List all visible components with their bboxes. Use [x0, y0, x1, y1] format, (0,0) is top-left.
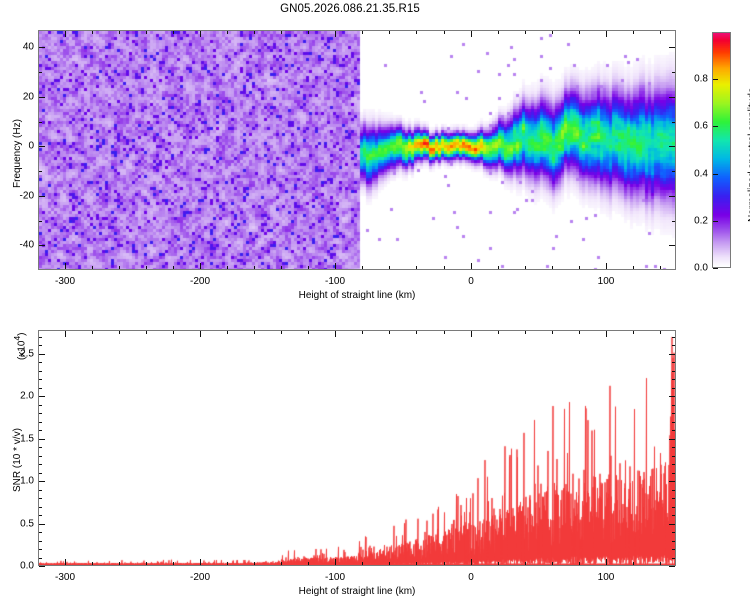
- x-tick-minor-top: [498, 31, 499, 34]
- x-tick-minor: [119, 266, 120, 269]
- y-tick-major-right: [669, 481, 675, 482]
- colorbar-tick-label: 0.8: [684, 74, 708, 85]
- y-tick-major: [39, 354, 45, 355]
- colorbar-tick-label: 0.0: [684, 263, 708, 274]
- x-tick-minor-top: [633, 331, 634, 334]
- y-tick-minor: [39, 379, 42, 380]
- y-tick-major: [39, 146, 45, 147]
- x-tick-minor-top: [227, 331, 228, 334]
- x-tick-minor-top: [146, 31, 147, 34]
- y-tick-minor: [39, 345, 42, 346]
- y-tick-minor: [39, 515, 42, 516]
- x-tick-minor: [552, 562, 553, 565]
- x-tick-major: [200, 263, 201, 269]
- y-tick-minor: [39, 122, 42, 123]
- x-tick-minor: [146, 266, 147, 269]
- y-tick-minor: [39, 171, 42, 172]
- x-tick-major: [335, 263, 336, 269]
- spectrogram-axes: [38, 30, 676, 270]
- x-tick-minor-top: [389, 31, 390, 34]
- x-tick-minor: [92, 266, 93, 269]
- x-tick-minor: [146, 562, 147, 565]
- x-tick-minor: [444, 562, 445, 565]
- spectrogram-image: [39, 31, 675, 269]
- y-tick-major-right: [669, 524, 675, 525]
- x-tick-minor: [579, 562, 580, 565]
- y-tick-minor-right: [672, 464, 675, 465]
- y-tick-minor: [39, 507, 42, 508]
- x-tick-minor: [498, 562, 499, 565]
- y-tick-major: [39, 47, 45, 48]
- y-tick-minor: [39, 456, 42, 457]
- snr-mult-base: (x10: [16, 341, 27, 360]
- x-tick-label: -100: [325, 572, 345, 583]
- x-tick-minor-top: [308, 331, 309, 334]
- y-tick-minor: [39, 464, 42, 465]
- x-tick-label: -200: [190, 572, 210, 583]
- x-tick-minor: [254, 266, 255, 269]
- y-tick-major: [39, 566, 45, 567]
- x-tick-major: [65, 263, 66, 269]
- x-tick-minor-top: [579, 31, 580, 34]
- y-tick-major-right: [669, 146, 675, 147]
- y-tick-minor-right: [672, 371, 675, 372]
- x-tick-minor: [92, 562, 93, 565]
- y-tick-major: [39, 524, 45, 525]
- x-tick-minor: [416, 562, 417, 565]
- x-tick-minor-top: [254, 31, 255, 34]
- y-tick-minor: [39, 413, 42, 414]
- snr-y-axis-label: SNR (10 * v/v): [12, 428, 23, 492]
- y-tick-minor-right: [672, 515, 675, 516]
- x-tick-minor-top: [92, 31, 93, 34]
- x-tick-minor-top: [525, 331, 526, 334]
- x-tick-major-top: [335, 31, 336, 37]
- spectrogram-y-axis-label: Frequency (Hz): [12, 119, 23, 188]
- colorbar-tick: [713, 126, 718, 127]
- y-tick-minor-right: [672, 558, 675, 559]
- x-tick-minor: [633, 266, 634, 269]
- y-tick-minor: [39, 490, 42, 491]
- x-tick-minor-top: [254, 331, 255, 334]
- colorbar: [712, 32, 731, 268]
- x-tick-minor: [389, 266, 390, 269]
- x-tick-minor: [281, 562, 282, 565]
- figure-title: GN05.2026.086.21.35.R15: [0, 3, 700, 15]
- x-tick-minor-top: [633, 31, 634, 34]
- y-tick-minor: [39, 221, 42, 222]
- colorbar-tick-label: 0.6: [684, 121, 708, 132]
- x-tick-minor: [389, 562, 390, 565]
- y-tick-minor-right: [672, 430, 675, 431]
- y-tick-major: [39, 196, 45, 197]
- x-tick-minor-top: [119, 31, 120, 34]
- x-tick-minor-top: [444, 31, 445, 34]
- y-tick-label: 0.0: [4, 561, 34, 572]
- snr-y-axis-multiplier: (x104): [12, 333, 27, 360]
- x-tick-major-top: [471, 331, 472, 337]
- y-tick-minor-right: [672, 405, 675, 406]
- x-tick-minor: [444, 266, 445, 269]
- x-tick-minor-top: [416, 31, 417, 34]
- snr-mult-exponent: 4: [12, 336, 22, 341]
- x-tick-label: -200: [190, 276, 210, 287]
- snr-trace: [39, 331, 675, 565]
- x-tick-major: [471, 263, 472, 269]
- x-tick-minor-top: [660, 331, 661, 334]
- x-tick-major: [606, 263, 607, 269]
- y-tick-minor-right: [672, 532, 675, 533]
- x-tick-minor: [281, 266, 282, 269]
- y-tick-minor-right: [672, 72, 675, 73]
- y-tick-label: -40: [4, 240, 34, 251]
- x-tick-label: 100: [598, 276, 615, 287]
- x-tick-major-top: [471, 31, 472, 37]
- y-tick-minor-right: [672, 337, 675, 338]
- y-tick-minor-right: [672, 379, 675, 380]
- x-tick-label: 100: [598, 572, 615, 583]
- y-tick-major: [39, 481, 45, 482]
- x-tick-major-top: [65, 31, 66, 37]
- y-tick-minor-right: [672, 473, 675, 474]
- x-tick-minor: [308, 266, 309, 269]
- x-tick-minor: [227, 562, 228, 565]
- x-tick-label: 0: [468, 572, 474, 583]
- y-tick-minor: [39, 405, 42, 406]
- x-tick-minor: [173, 266, 174, 269]
- x-tick-minor-top: [362, 331, 363, 334]
- x-tick-minor-top: [173, 331, 174, 334]
- y-tick-minor: [39, 447, 42, 448]
- x-tick-minor-top: [579, 331, 580, 334]
- colorbar-tick: [713, 221, 718, 222]
- y-tick-minor-right: [672, 221, 675, 222]
- x-tick-label: 0: [468, 276, 474, 287]
- x-tick-minor-top: [416, 331, 417, 334]
- y-tick-major-right: [669, 97, 675, 98]
- y-tick-major-right: [669, 47, 675, 48]
- y-tick-minor: [39, 473, 42, 474]
- x-tick-major-top: [606, 31, 607, 37]
- y-tick-minor: [39, 558, 42, 559]
- x-tick-major: [471, 559, 472, 565]
- snr-x-axis-label: Height of straight line (km): [299, 586, 416, 597]
- snr-mult-close: ): [16, 333, 27, 336]
- y-tick-minor-right: [672, 507, 675, 508]
- x-tick-major-top: [335, 331, 336, 337]
- x-tick-minor: [660, 266, 661, 269]
- y-tick-minor-right: [672, 122, 675, 123]
- y-tick-label: 20: [4, 92, 34, 103]
- y-tick-minor: [39, 422, 42, 423]
- x-tick-minor: [579, 266, 580, 269]
- y-tick-minor-right: [672, 388, 675, 389]
- y-tick-minor: [39, 72, 42, 73]
- colorbar-tick: [713, 268, 718, 269]
- x-tick-minor: [633, 562, 634, 565]
- x-tick-minor-top: [92, 331, 93, 334]
- y-tick-minor-right: [672, 413, 675, 414]
- x-tick-minor-top: [119, 331, 120, 334]
- snr-axes: [38, 330, 676, 566]
- x-tick-label: -100: [325, 276, 345, 287]
- colorbar-tick-label: 0.4: [684, 169, 708, 180]
- y-tick-minor-right: [672, 456, 675, 457]
- y-tick-major-right: [669, 439, 675, 440]
- x-tick-minor: [552, 266, 553, 269]
- y-tick-minor-right: [672, 490, 675, 491]
- y-tick-minor: [39, 541, 42, 542]
- x-tick-major: [606, 559, 607, 565]
- x-tick-minor: [362, 562, 363, 565]
- y-tick-label: -20: [4, 191, 34, 202]
- x-tick-minor: [525, 266, 526, 269]
- x-tick-major-top: [65, 331, 66, 337]
- x-tick-minor: [119, 562, 120, 565]
- y-tick-minor: [39, 532, 42, 533]
- y-tick-minor: [39, 388, 42, 389]
- x-tick-minor-top: [173, 31, 174, 34]
- y-tick-major-right: [669, 566, 675, 567]
- x-tick-major-top: [606, 331, 607, 337]
- y-tick-major: [39, 396, 45, 397]
- y-tick-major: [39, 439, 45, 440]
- y-tick-minor-right: [672, 345, 675, 346]
- y-tick-minor-right: [672, 549, 675, 550]
- x-tick-minor: [362, 266, 363, 269]
- y-tick-minor: [39, 549, 42, 550]
- y-tick-minor: [39, 430, 42, 431]
- x-tick-minor-top: [525, 31, 526, 34]
- y-tick-label: 0.5: [4, 519, 34, 530]
- x-tick-minor-top: [146, 331, 147, 334]
- y-tick-minor: [39, 337, 42, 338]
- x-tick-minor: [254, 562, 255, 565]
- y-tick-label: 2.0: [4, 391, 34, 402]
- x-tick-minor-top: [281, 331, 282, 334]
- y-tick-label: 40: [4, 42, 34, 53]
- y-tick-major-right: [669, 354, 675, 355]
- y-tick-major-right: [669, 196, 675, 197]
- spectrogram-x-axis-label: Height of straight line (km): [299, 290, 416, 301]
- figure-root: GN05.2026.086.21.35.R15 -300-200-1000100…: [0, 0, 750, 600]
- y-tick-major: [39, 245, 45, 246]
- x-tick-minor-top: [308, 31, 309, 34]
- y-tick-minor: [39, 362, 42, 363]
- y-tick-minor-right: [672, 362, 675, 363]
- y-tick-minor-right: [672, 498, 675, 499]
- x-tick-major: [65, 559, 66, 565]
- x-tick-minor: [660, 562, 661, 565]
- colorbar-tick: [713, 174, 718, 175]
- x-tick-minor-top: [552, 331, 553, 334]
- x-tick-label: -300: [55, 572, 75, 583]
- y-tick-minor: [39, 371, 42, 372]
- x-tick-minor: [173, 562, 174, 565]
- colorbar-tick-label: 0.2: [684, 216, 708, 227]
- x-tick-major: [200, 559, 201, 565]
- x-tick-minor: [416, 266, 417, 269]
- y-tick-major-right: [669, 245, 675, 246]
- y-tick-major: [39, 97, 45, 98]
- y-tick-minor-right: [672, 541, 675, 542]
- x-tick-major: [335, 559, 336, 565]
- x-tick-minor-top: [552, 31, 553, 34]
- x-tick-minor-top: [498, 331, 499, 334]
- colorbar-tick: [713, 79, 718, 80]
- x-tick-minor: [227, 266, 228, 269]
- y-tick-minor-right: [672, 447, 675, 448]
- x-tick-minor: [308, 562, 309, 565]
- x-tick-minor-top: [444, 331, 445, 334]
- x-tick-minor-top: [281, 31, 282, 34]
- x-tick-minor-top: [227, 31, 228, 34]
- x-tick-minor-top: [660, 31, 661, 34]
- y-tick-major-right: [669, 396, 675, 397]
- y-tick-minor-right: [672, 422, 675, 423]
- x-tick-minor: [498, 266, 499, 269]
- x-tick-minor-top: [389, 331, 390, 334]
- y-tick-minor-right: [672, 171, 675, 172]
- x-tick-minor-top: [362, 31, 363, 34]
- x-tick-major-top: [200, 331, 201, 337]
- x-tick-major-top: [200, 31, 201, 37]
- y-tick-minor: [39, 498, 42, 499]
- x-tick-label: -300: [55, 276, 75, 287]
- colorbar-gradient: [713, 33, 730, 267]
- x-tick-minor: [525, 562, 526, 565]
